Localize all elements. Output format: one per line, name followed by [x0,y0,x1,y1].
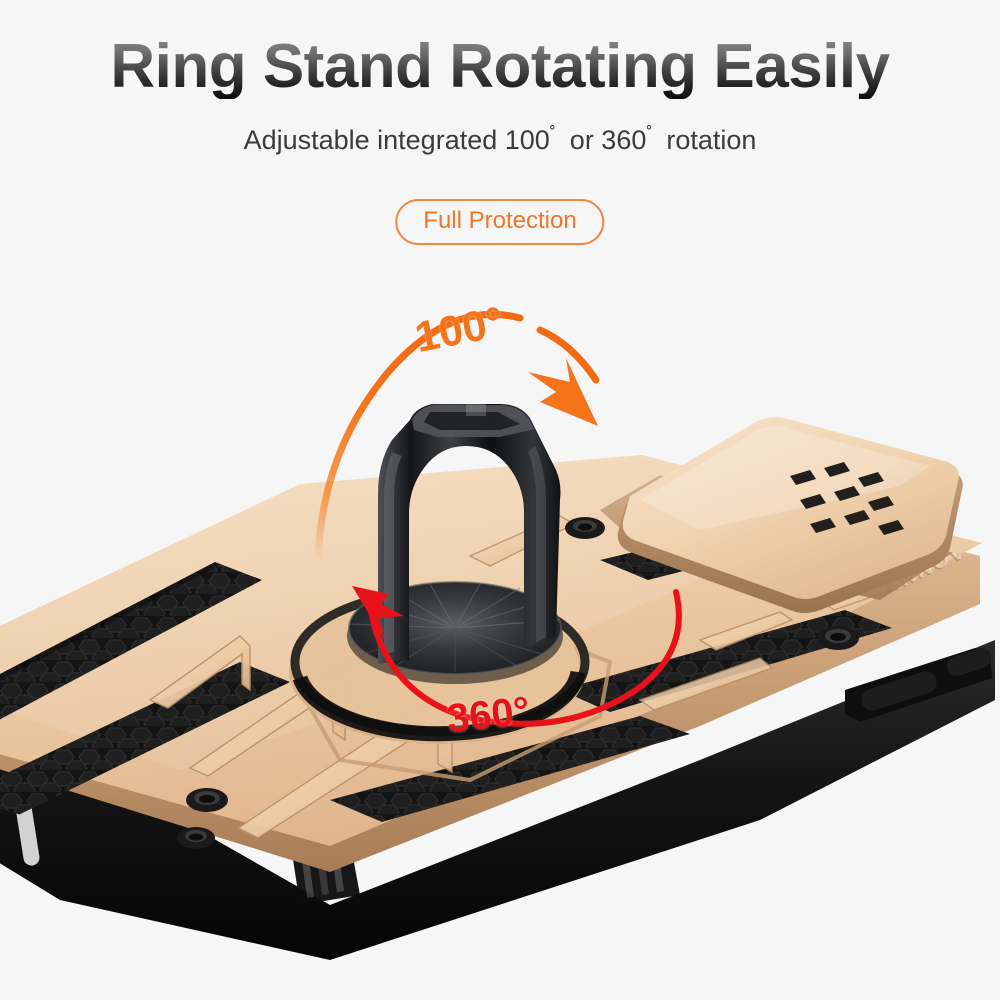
product-photo: DISCO INNOVATI DISCO INNOVATI [0,0,1000,1000]
phone-case-illustration: DISCO INNOVATI DISCO INNOVATI [0,0,1000,1000]
product-marketing-image: Ring Stand Rotating Easily Adjustable in… [0,0,1000,1000]
rotation-angle-label: 360° [445,689,532,742]
